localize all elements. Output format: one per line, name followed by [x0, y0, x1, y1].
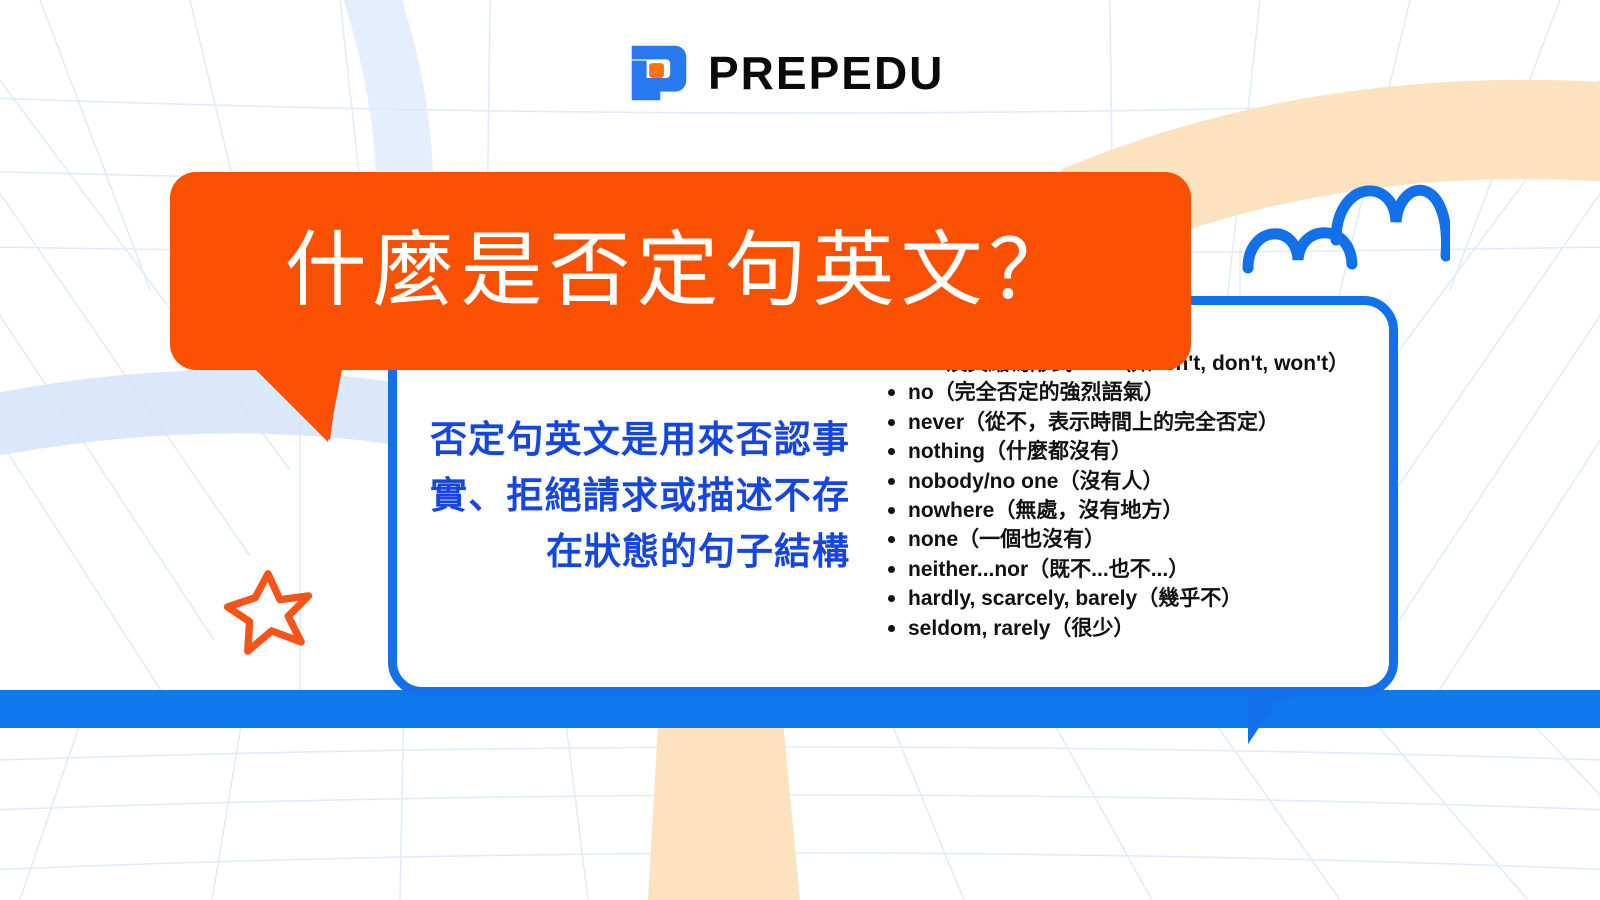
brand-name: PREPEDU	[708, 50, 944, 96]
list-item: nothing（什麼都沒有）	[884, 437, 1398, 466]
list-item: no（完全否定的強烈語氣）	[884, 378, 1398, 407]
list-item: never（從不，表示時間上的完全否定）	[884, 408, 1398, 437]
list-item: neither...nor（既不...也不...）	[884, 555, 1398, 584]
orange-bubble-tail	[252, 366, 342, 442]
blue-bubble-tail	[1230, 688, 1320, 768]
infographic-canvas: PREP PREPEDU 否定句英文是用來否認事實、拒絕請求或描述不存在狀態的句…	[0, 0, 1600, 900]
title-speech-bubble: 什麼是否定句英文？	[170, 172, 1191, 370]
list-item: nobody/no one（沒有人）	[884, 467, 1398, 496]
definition-text: 否定句英文是用來否認事實、拒絕請求或描述不存在狀態的句子結構	[388, 412, 850, 581]
star-doodle-icon	[222, 565, 314, 660]
brand-logo[interactable]: PREPEDU	[628, 42, 944, 104]
page-title: 什麼是否定句英文？	[284, 230, 1076, 312]
peach-column-shape	[648, 690, 800, 900]
list-item: none（一個也沒有）	[884, 525, 1398, 554]
prep-logo-mark-icon	[628, 42, 690, 104]
list-item: seldom, rarely（很少）	[884, 614, 1398, 643]
list-item: nowhere（無處，沒有地方）	[884, 496, 1398, 525]
negation-keyword-list: not 及其縮寫形式 -n't（如 isn't, don't, won't） n…	[850, 349, 1398, 643]
list-item: hardly, scarcely, barely（幾乎不）	[884, 584, 1398, 613]
squiggle-doodle-icon	[1240, 160, 1450, 285]
